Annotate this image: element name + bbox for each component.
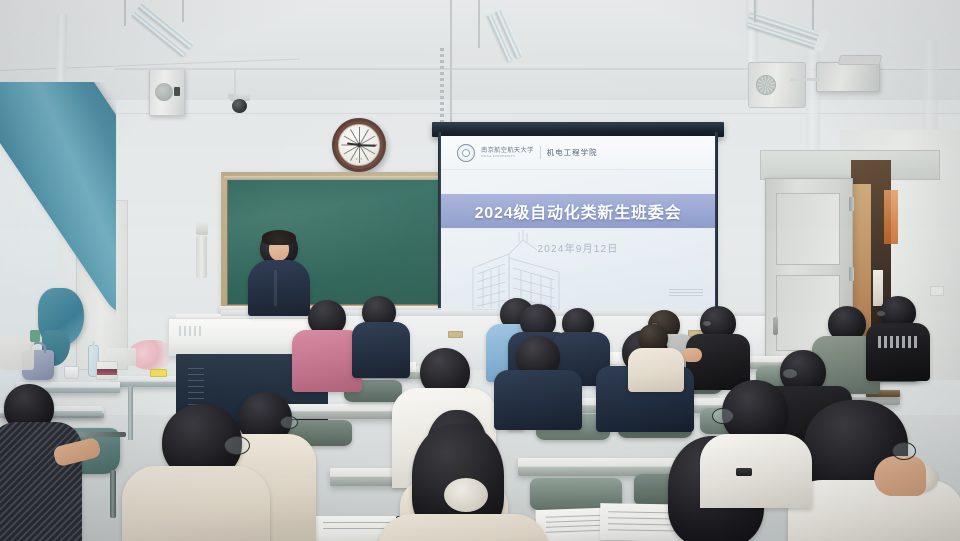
light-hanger-c xyxy=(754,0,756,22)
screen-edge-right xyxy=(715,132,718,308)
camera-conduit xyxy=(234,69,236,95)
blackboard-track xyxy=(224,176,444,180)
student xyxy=(866,296,930,378)
tissue-box xyxy=(96,361,118,380)
slide-title-banner: 2024级自动化类新生班委会 xyxy=(441,194,715,228)
paper-bag xyxy=(0,336,34,370)
shirt-placket xyxy=(274,270,277,306)
air-conditioner xyxy=(748,62,806,108)
wall-speaker xyxy=(149,68,185,116)
slide-divider xyxy=(540,146,541,159)
clock-face: 9:15 xyxy=(338,124,380,166)
student-foreground xyxy=(122,404,270,541)
slide-footer-mark xyxy=(669,289,703,296)
ac-fan-icon xyxy=(756,75,776,95)
wall-bracket xyxy=(196,222,208,235)
lectern-logo-icon xyxy=(179,326,201,336)
speaker-button xyxy=(174,87,180,96)
light-switch[interactable] xyxy=(930,286,944,296)
projector-mount xyxy=(816,62,880,92)
rail-clip xyxy=(448,331,463,338)
screen-housing xyxy=(432,122,724,137)
slide-header: 南京航空航天大学 NUAA UNIVERSITY 机电工程学院 xyxy=(441,136,715,170)
ac-conduit xyxy=(790,78,820,81)
speaker-grill-icon xyxy=(155,83,173,101)
door-handle[interactable] xyxy=(773,317,778,335)
student xyxy=(686,306,750,386)
green-item xyxy=(30,330,40,342)
classroom-photo: 9:15 南京航空航天大学 NUAA UNIVERSITY 机电工程学院 xyxy=(0,0,960,541)
screen-cable-left xyxy=(450,0,452,122)
light-hanger-d xyxy=(812,0,814,30)
chalk-holder xyxy=(196,236,207,278)
clock-brand-label: 9:15 xyxy=(339,157,379,161)
light-hanger-b xyxy=(182,0,184,22)
slide-college-name: 机电工程学院 xyxy=(547,147,598,158)
projection-screen: 南京航空航天大学 NUAA UNIVERSITY 机电工程学院 2024级自动化… xyxy=(441,136,715,310)
chair-leg xyxy=(110,470,116,518)
camera-lens-icon xyxy=(232,99,247,113)
university-logo-icon xyxy=(457,144,475,162)
notice-tag xyxy=(150,369,167,377)
student xyxy=(494,336,582,422)
light-hanger-a xyxy=(124,0,126,26)
paper-cup xyxy=(64,366,79,379)
security-camera xyxy=(226,92,254,114)
wall-clock: 9:15 xyxy=(332,118,386,172)
student xyxy=(628,324,684,386)
student-foreground xyxy=(0,384,90,541)
student-foreground xyxy=(700,380,812,500)
student-foreground xyxy=(788,400,960,541)
wall-poster xyxy=(884,190,898,244)
screen-chain xyxy=(440,48,444,122)
wall-conduit xyxy=(115,68,755,70)
student-foreground xyxy=(378,424,548,541)
slide-university-name: 南京航空航天大学 NUAA UNIVERSITY xyxy=(481,147,534,159)
slide-title: 2024级自动化类新生班委会 xyxy=(475,199,682,223)
slide-date: 2024年9月12日 xyxy=(441,240,715,255)
door-frame-transom xyxy=(760,150,940,180)
